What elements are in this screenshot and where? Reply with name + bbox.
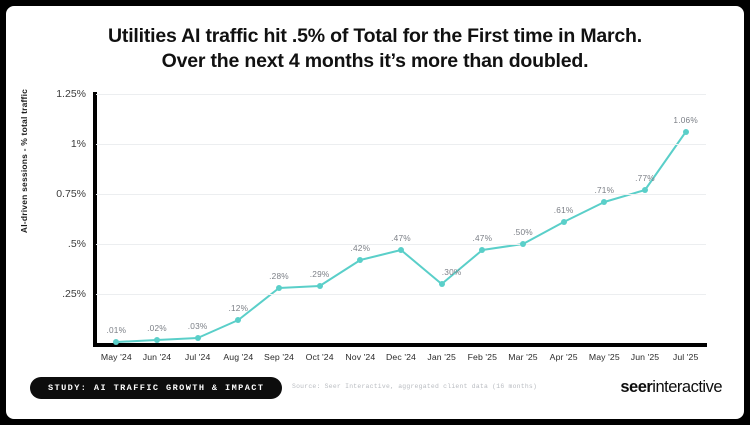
seer-interactive-logo: seerinteractive [620, 378, 722, 397]
x-axis-tick-label: Oct '24 [306, 352, 334, 362]
gridline [96, 194, 706, 195]
data-point-label: .03% [188, 321, 208, 331]
data-point[interactable] [683, 129, 689, 135]
data-point[interactable] [154, 337, 160, 343]
x-axis-tick-label: Sep '24 [264, 352, 294, 362]
y-axis-ticks: 1.25%1%0.75%.5%.25% [6, 6, 86, 419]
data-point-label: .01% [106, 325, 126, 335]
chart-area: 1.25%1%0.75%.5%.25% AI-driven sessions -… [6, 6, 744, 419]
y-axis-title: AI-driven sessions - % total traffic [19, 81, 29, 241]
data-point-label: .47% [391, 233, 411, 243]
x-axis-tick-label: Feb '25 [468, 352, 497, 362]
data-point[interactable] [561, 219, 567, 225]
data-point[interactable] [642, 187, 648, 193]
data-point[interactable] [398, 247, 404, 253]
data-point-label: .30% [442, 267, 462, 277]
data-point-label: .28% [269, 271, 289, 281]
data-point-label: 1.06% [673, 115, 698, 125]
x-axis-tick-label: Jul '25 [673, 352, 699, 362]
chart-card: Utilities AI traffic hit .5% of Total fo… [0, 0, 750, 425]
x-axis-tick-label: May '24 [101, 352, 132, 362]
y-axis-tick-label: .5% [68, 238, 86, 250]
logo-light: interactive [652, 378, 722, 396]
y-axis-tick-label: 1.25% [56, 88, 86, 100]
gridline [96, 244, 706, 245]
data-point-label: .42% [350, 243, 370, 253]
x-axis-tick-label: Apr '25 [550, 352, 578, 362]
source-note: Source: Seer Interactive, aggregated cli… [292, 383, 537, 390]
x-axis-tick-label: Jun '25 [631, 352, 659, 362]
data-point[interactable] [520, 241, 526, 247]
data-point[interactable] [195, 335, 201, 341]
data-point[interactable] [439, 281, 445, 287]
footer: STUDY: AI TRAFFIC GROWTH & IMPACT Source… [6, 375, 744, 409]
x-axis-tick-label: Jan '25 [427, 352, 455, 362]
x-axis-tick-label: Jul '24 [185, 352, 211, 362]
data-point-label: .47% [472, 233, 492, 243]
y-axis-tick-label: 0.75% [56, 188, 86, 200]
plot-area: .01%.02%.03%.12%.28%.29%.42%.47%.30%.47%… [96, 94, 706, 344]
x-axis-tick-label: Dec '24 [386, 352, 416, 362]
series-line [96, 94, 706, 344]
data-point-label: .29% [310, 269, 330, 279]
x-axis-tick-label: Mar '25 [508, 352, 537, 362]
data-point-label: .12% [228, 303, 248, 313]
data-point-label: .50% [513, 227, 533, 237]
data-point-label: .02% [147, 323, 167, 333]
data-point[interactable] [317, 283, 323, 289]
gridline [96, 94, 706, 95]
data-point[interactable] [276, 285, 282, 291]
x-axis-tick-label: Nov '24 [345, 352, 375, 362]
x-axis-tick-label: Aug '24 [223, 352, 253, 362]
gridline [96, 294, 706, 295]
y-axis-tick-label: 1% [71, 138, 86, 150]
gridline [96, 144, 706, 145]
y-axis-tick-label: .25% [62, 288, 86, 300]
logo-bold: seer [620, 378, 652, 396]
data-point-label: .77% [635, 173, 655, 183]
x-axis-tick-label: Jun '24 [143, 352, 171, 362]
study-badge: STUDY: AI TRAFFIC GROWTH & IMPACT [30, 377, 282, 399]
data-point-label: .71% [594, 185, 614, 195]
x-axis-tick-label: May '25 [589, 352, 620, 362]
data-point-label: .61% [554, 205, 574, 215]
